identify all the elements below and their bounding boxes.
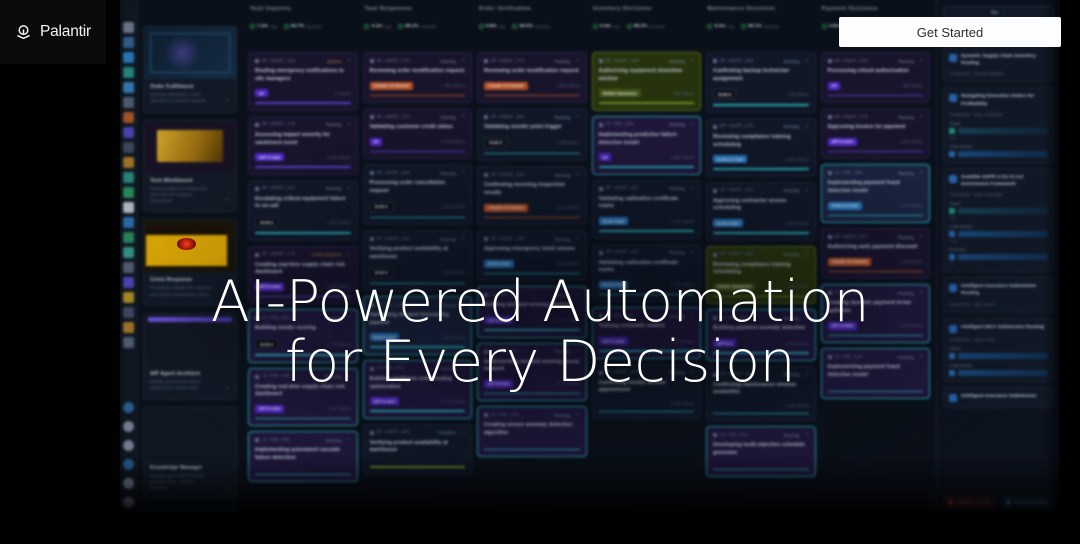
- kanban-column[interactable]: OP-AGENT_180Running↗Confirming backup te…: [706, 52, 816, 506]
- task-id: AI-PDE_216: [491, 349, 519, 354]
- task-id: OP-AGENT_191: [377, 237, 410, 242]
- task-card[interactable]: OP-AGENT_191Running↗Verifying product av…: [363, 230, 473, 291]
- task-model-chip: GPT-4 mini: [828, 322, 857, 330]
- quiver-icon[interactable]: [123, 112, 134, 123]
- task-card-footer: GPT-4 mini2,504 tokens: [828, 322, 924, 330]
- external-link-icon[interactable]: ↗: [804, 124, 808, 130]
- help-icon[interactable]: [123, 421, 134, 432]
- external-link-icon[interactable]: ↗: [690, 313, 694, 319]
- task-id: AI-PDE_228: [835, 355, 863, 360]
- task-card-footer: GPT-4 mini1,061 tokens: [828, 138, 924, 146]
- external-link-icon[interactable]: ↗: [575, 236, 579, 242]
- hivemind-created-by: Created By : Glyn Lovett: [949, 302, 1048, 307]
- task-card[interactable]: OP-AGENT_181Running↗Escalating critical …: [248, 180, 358, 241]
- task-card[interactable]: OP-AGENT_173Running↗Approving invoice fo…: [821, 108, 931, 159]
- exploration-icon: [949, 175, 957, 183]
- task-card[interactable]: AI-PDE_204Running↗Building vendor scorin…: [248, 309, 358, 362]
- project-column[interactable]: Order FulfillmentOptimize distribution c…: [138, 0, 242, 512]
- task-card[interactable]: AI-PDE_222Running↗Building payment anoma…: [706, 309, 816, 360]
- agent-icon: [713, 253, 717, 257]
- agent-icon: [484, 350, 488, 354]
- task-title: Reviewing order modification request: [484, 68, 580, 76]
- get-started-button[interactable]: Get Started: [839, 17, 1061, 47]
- task-model-chip: Grok-4: [713, 89, 736, 99]
- task-status: Running: [555, 349, 571, 354]
- hivemind-section-row[interactable]: [949, 151, 1048, 157]
- task-title: Validating reorder point trigger: [484, 124, 580, 132]
- agent-icon: [255, 123, 259, 127]
- hivemind-section-row[interactable]: [949, 370, 1048, 376]
- panel-footer-button[interactable]: Browse Problems: [1001, 497, 1054, 508]
- agent-icon: [599, 251, 603, 255]
- task-status: Complete: [438, 430, 456, 435]
- avatar-icon[interactable]: [123, 497, 134, 508]
- hivemind-item-icon: [949, 353, 955, 359]
- account-icon[interactable]: [123, 440, 134, 451]
- task-status: Running: [326, 438, 342, 443]
- task-card[interactable]: AI-PDE_226Running↗Creating dynamic payme…: [821, 284, 931, 343]
- external-link-icon[interactable]: ↗: [461, 236, 465, 242]
- task-title: Confirming maintenance window availabili…: [713, 382, 809, 397]
- external-link-icon[interactable]: ↗: [919, 234, 923, 240]
- external-link-icon[interactable]: ↗: [346, 186, 350, 192]
- hivemind-item-name: [958, 370, 1048, 376]
- task-token-count: 2,104 tokens: [327, 155, 350, 160]
- kanban-column[interactable]: OP-AGENT_194Inbetws↗Routing emergency no…: [248, 52, 358, 506]
- task-status: Running: [440, 115, 456, 120]
- task-card-header: OP-AGENT_181Running↗: [255, 186, 351, 192]
- task-progress-bar: [255, 102, 351, 104]
- hivemind-card-top: Intelligent Insurance Submission Routing: [949, 283, 1048, 297]
- task-status: Running: [555, 293, 571, 298]
- external-link-icon[interactable]: ↗: [461, 114, 465, 120]
- agent-icon: [713, 125, 717, 129]
- task-id: OP-AGENT_196: [606, 370, 639, 375]
- external-link-icon[interactable]: ↗: [804, 252, 808, 258]
- hivemind-card[interactable]: Navigating Executive Orders for Profitab…: [943, 87, 1054, 162]
- exploration-icon: [949, 394, 957, 402]
- hivemind-item-count: +28: [949, 136, 1048, 140]
- task-card[interactable]: OP-AGENT_190Running↗Approving emergency …: [477, 230, 587, 281]
- task-progress-bar: [484, 449, 580, 451]
- table-icon[interactable]: [123, 307, 134, 318]
- agent-icon: [255, 375, 259, 379]
- external-link-icon[interactable]: ↗: [575, 349, 579, 355]
- task-model-chip: Grok-3: [255, 339, 278, 349]
- task-card[interactable]: AI-PDE_216Running↗Implementing demand se…: [477, 343, 587, 402]
- task-card-header: AI-PDE_206Running↗: [255, 374, 351, 380]
- task-model-chip: Grok-3: [255, 217, 278, 227]
- task-card[interactable]: AI-PDE_214Running↗Building demand sensin…: [477, 286, 587, 337]
- task-title: Authorizing equipment downtime window: [599, 68, 695, 83]
- external-link-icon[interactable]: ↗: [804, 432, 808, 438]
- task-id: AI-PDE_214: [491, 293, 519, 298]
- external-link-icon[interactable]: ↗: [919, 170, 923, 176]
- task-card-header: OP-AGENT_170Running↗: [255, 122, 351, 128]
- external-link-icon[interactable]: ↗: [346, 315, 350, 321]
- task-card[interactable]: OP-AGENT_187Running↗Validating calibrati…: [592, 180, 702, 239]
- task-token-count: 1,515 tokens: [556, 205, 579, 210]
- panel-footer-buttons[interactable]: Workflow LineageBrowse Problems: [943, 493, 1054, 508]
- project-subtitle: Proactively mitigate the exposure and mo…: [150, 285, 212, 298]
- contour-icon[interactable]: [123, 82, 134, 93]
- external-link-icon[interactable]: ↗: [690, 122, 694, 128]
- task-card-header: OP-AGENT_186Running↗: [713, 188, 809, 194]
- agent-icon: [828, 355, 832, 359]
- exploration-icon: [949, 284, 957, 292]
- external-link-icon[interactable]: ↗: [804, 372, 808, 378]
- project-title: Tech Workbench: [150, 178, 230, 184]
- task-card[interactable]: AI-PDE_195Running↗Implementing predictiv…: [592, 116, 702, 175]
- project-card[interactable]: [143, 507, 237, 512]
- task-id: OP-AGENT_188: [491, 173, 524, 178]
- task-progress-bar: [255, 354, 351, 356]
- task-progress-bar: [713, 296, 809, 298]
- task-progress-bar: [484, 393, 580, 395]
- task-token-count: 1,270 tokens: [442, 139, 465, 144]
- arrow-right-icon[interactable]: →: [223, 196, 230, 203]
- task-card-header: AI-PDE_199Running↗: [828, 170, 924, 176]
- task-card-footer: GPT-4.12,330 tokens: [713, 339, 809, 347]
- external-link-icon[interactable]: ↗: [919, 290, 923, 296]
- arrow-right-icon[interactable]: →: [223, 384, 230, 391]
- agent-icon: [484, 237, 488, 241]
- apps-icon[interactable]: [123, 459, 134, 470]
- slate-icon[interactable]: [123, 97, 134, 108]
- task-card[interactable]: OP-AGENT_178Running↗Reviewing compliance…: [706, 118, 816, 177]
- task-progress-bar: [599, 294, 695, 296]
- agent-icon: [599, 314, 603, 318]
- task-model-chip: GPT-4.1: [713, 339, 736, 347]
- task-card[interactable]: OP-AGENT_170Running↗Assessing impact sev…: [248, 116, 358, 175]
- task-title: Reviewing compliance training scheduling: [713, 134, 809, 149]
- task-card[interactable]: AI-PDE_220Running↗Training ensemble mode…: [592, 307, 702, 358]
- hivemind-card[interactable]: Scalable GDPR & EU AI Act Governance Fra…: [943, 168, 1054, 272]
- hivemind-card[interactable]: Intelligent Insurance Submission: [943, 387, 1054, 408]
- kanban-column[interactable]: OP-AGENT_182Running↗Processing refund au…: [821, 52, 931, 506]
- brand-name: Palantir: [40, 23, 91, 41]
- task-token-count: 1,145 tokens: [442, 204, 465, 209]
- task-card[interactable]: AI-PDE_208Running↗Implementing automated…: [248, 431, 358, 482]
- external-link-icon[interactable]: ↗: [690, 370, 694, 376]
- task-token-count: 1,740 tokens: [327, 342, 350, 347]
- task-card-footer: Grok-4 fast1,880 tokens: [484, 260, 580, 268]
- chart-icon[interactable]: [123, 337, 134, 348]
- task-status: Running: [326, 374, 342, 379]
- hivemind-card-top: Intelligent MGA Submission Routing: [949, 324, 1048, 333]
- task-card[interactable]: OP-AGENT_198Running↗Confirming maintenan…: [706, 366, 816, 422]
- project-card[interactable]: Crisis ResponseProactively mitigate the …: [143, 219, 237, 306]
- task-card[interactable]: OP-AGENT_193Complete↗Verifying product a…: [363, 424, 473, 475]
- task-status: Running: [440, 303, 456, 308]
- hivemind-item-icon: [949, 151, 955, 157]
- task-status: Running: [669, 122, 685, 127]
- task-status: Running: [555, 237, 571, 242]
- project-thumbnail: [144, 220, 236, 272]
- task-progress-bar: [599, 166, 695, 168]
- brand-logo[interactable]: Palantir: [0, 0, 106, 64]
- project-card-body: Order FulfillmentOptimize distribution c…: [144, 79, 236, 112]
- workshop-icon[interactable]: [123, 127, 134, 138]
- task-card[interactable]: AI-PDE_212Running↗Building intelligent o…: [363, 360, 473, 419]
- task-progress-bar: [484, 95, 580, 97]
- kanban-column[interactable]: OP-AGENT_185Running↗Authorizing equipmen…: [592, 52, 702, 506]
- task-progress-bar: [828, 151, 924, 153]
- scenario-icon[interactable]: [123, 142, 134, 153]
- lineage-icon: [948, 500, 953, 505]
- hivemind-section-row[interactable]: [949, 128, 1048, 134]
- task-card-header: AI-PDE_228Running↗: [828, 354, 924, 360]
- kanban-board: Task Inquiries7.2mavg94.7%successTask Re…: [242, 0, 936, 512]
- task-id: AI-PDE_212: [377, 366, 405, 371]
- hivemind-item-icon: [949, 231, 955, 237]
- hivemind-item-icon: [949, 370, 955, 376]
- task-title: Implementing payment fraud detection mod…: [828, 180, 924, 195]
- task-progress-bar: [484, 217, 580, 219]
- task-model-chip: v4: [828, 82, 841, 90]
- task-card[interactable]: OP-AGENT_192Running↗Validating calibrati…: [592, 244, 702, 303]
- task-id: AI-PDE_199: [835, 171, 863, 176]
- task-card-footer: GPT-4 mini2,432 tokens: [255, 405, 351, 413]
- task-card-header: AI-PDE_208Running↗: [255, 437, 351, 443]
- task-card[interactable]: OP-AGENT_189Running↗Reviewing compliance…: [706, 246, 816, 305]
- task-token-count: 2,432 tokens: [327, 406, 350, 411]
- kanban-column[interactable]: OP-AGENT_179Running↗Reviewing order modi…: [363, 52, 473, 506]
- task-model-chip: Claude 3.5 Sonnet: [828, 258, 872, 266]
- task-card[interactable]: OP-AGENT_176Active Required↗Creating rea…: [248, 246, 358, 305]
- hivemind-item-icon: [949, 208, 955, 214]
- notifications-icon[interactable]: [123, 478, 134, 489]
- task-id: AI-PDE_220: [606, 314, 634, 319]
- hivemind-section-row[interactable]: [949, 208, 1048, 214]
- hivemind-card-top: Intelligent Insurance Submission: [949, 393, 1048, 402]
- agent-icon: [713, 189, 717, 193]
- alert-icon[interactable]: [123, 292, 134, 303]
- task-card[interactable]: OP-AGENT_188Running↗Confirming receiving…: [477, 166, 587, 225]
- task-model-chip: Grok-3: [370, 268, 393, 278]
- task-title: Training ensemble models: [599, 323, 695, 331]
- task-model-chip: GPT-4 mini: [828, 138, 857, 146]
- external-link-icon[interactable]: ↗: [575, 114, 579, 120]
- hivemind-card-title: Intelligent MGA Submission Routing: [961, 324, 1044, 333]
- agent-icon: [713, 373, 717, 377]
- task-token-count: 0 tokens: [335, 91, 350, 96]
- task-token-count: 2,610 tokens: [556, 381, 579, 386]
- task-status: Active Required: [312, 252, 342, 257]
- task-card-header: OP-AGENT_191Running↗: [370, 236, 466, 242]
- task-progress-bar: [370, 217, 466, 219]
- hivemind-card-title: Intelligent Insurance Submission: [961, 393, 1036, 402]
- external-link-icon[interactable]: ↗: [346, 374, 350, 380]
- task-card[interactable]: AI-PDE_199Running↗Implementing payment f…: [821, 164, 931, 223]
- external-link-icon[interactable]: ↗: [804, 188, 808, 194]
- task-card-header: OP-AGENT_189Running↗: [713, 252, 809, 258]
- task-status: Running: [555, 413, 571, 418]
- hivemind-card[interactable]: Intelligent Insurance Submission Routing…: [943, 277, 1054, 312]
- project-card[interactable]: Knowledge ManagerManage agent staff conc…: [143, 407, 237, 500]
- task-card-header: OP-AGENT_172Running↗: [370, 114, 466, 120]
- task-card[interactable]: OP-AGENT_186Running↗Approving contractor…: [706, 182, 816, 241]
- task-progress-bar: [713, 104, 809, 106]
- kanban-columns[interactable]: OP-AGENT_194Inbetws↗Routing emergency no…: [242, 52, 936, 512]
- task-id: OP-AGENT_190: [491, 237, 524, 242]
- task-title: Confirming receiving inspection results: [484, 182, 580, 197]
- external-link-icon[interactable]: ↗: [575, 172, 579, 178]
- task-token-count: 2,015 tokens: [442, 335, 465, 340]
- task-card[interactable]: AI-PDE_210Running↗Optimizing demand fore…: [363, 296, 473, 355]
- project-card[interactable]: AIP Agent ArchitectIdentify and improve …: [143, 313, 237, 400]
- task-status: Running: [898, 171, 914, 176]
- task-title: Creating real-time supply chain risk das…: [255, 384, 351, 399]
- project-title: Order Fulfillment: [150, 84, 230, 90]
- agent-icon: [255, 253, 259, 257]
- task-token-count: 1,455 tokens: [671, 401, 694, 406]
- project-card[interactable]: Tech WorkbenchReview production bottlene…: [143, 120, 237, 213]
- task-token-count: 1,406 tokens: [785, 157, 808, 162]
- settings-icon[interactable]: [123, 402, 134, 413]
- task-title: Confirming vendor service appointment: [599, 380, 695, 395]
- exploration-icon: [949, 94, 957, 102]
- task-status: Running: [326, 316, 342, 321]
- task-status: Running: [555, 173, 571, 178]
- task-id: AI-PDE_195: [606, 122, 634, 127]
- project-thumbnail: [144, 508, 236, 512]
- app-icon-rail[interactable]: [120, 0, 138, 512]
- task-card[interactable]: OP-AGENT_172Running↗Validating customer …: [363, 108, 473, 159]
- agent-icon: [370, 171, 374, 175]
- task-card[interactable]: OP-AGENT_196Running↗Confirming vendor se…: [592, 364, 702, 420]
- external-link-icon[interactable]: ↗: [346, 122, 350, 128]
- task-token-count: 2,880 tokens: [327, 284, 350, 289]
- task-model-chip: NVIDIA Nemotron: [599, 89, 641, 97]
- kanban-column[interactable]: OP-AGENT_175Running↗Reviewing order modi…: [477, 52, 587, 506]
- external-link-icon[interactable]: ↗: [690, 186, 694, 192]
- task-card-header: OP-AGENT_196Running↗: [599, 370, 695, 376]
- task-card[interactable]: AI-PDE_228Running↗Implementing payment f…: [821, 348, 931, 399]
- task-id: OP-AGENT_189: [720, 252, 753, 257]
- hivemind-card-list[interactable]: Dynamic Supply Chain Inventory RoutingCr…: [943, 47, 1054, 408]
- external-link-icon[interactable]: ↗: [575, 412, 579, 418]
- external-link-icon[interactable]: ↗: [461, 366, 465, 372]
- task-status: Running: [898, 115, 914, 120]
- task-token-count: 295 tokens: [788, 284, 808, 289]
- hivemind-section-row[interactable]: [949, 231, 1048, 237]
- task-progress-bar: [713, 469, 809, 471]
- panel-footer-button[interactable]: Workflow Lineage: [943, 497, 996, 508]
- task-model-chip: v4: [599, 153, 612, 161]
- external-link-icon[interactable]: ↗: [575, 292, 579, 298]
- task-card-header: AI-PDE_218Running↗: [484, 412, 580, 418]
- task-card-footer: v4284 tokens: [828, 82, 924, 90]
- hivemind-item-name: [958, 353, 1048, 359]
- task-model-chip: Grok-4 fast: [370, 333, 400, 341]
- graph-icon[interactable]: [123, 172, 134, 183]
- arrow-right-icon[interactable]: →: [223, 290, 230, 297]
- task-id: OP-AGENT_187: [606, 186, 639, 191]
- hivemind-item-name: [958, 128, 1048, 134]
- task-model-chip: Grok-4.1 Fast: [713, 155, 747, 163]
- task-title: Implementing predictive failure detectio…: [599, 132, 695, 147]
- task-model-chip: Grok-3: [370, 202, 393, 212]
- hivemind-section-label: Views:: [949, 346, 1048, 351]
- project-subtitle: Optimize distribution center operations …: [150, 92, 212, 105]
- external-link-icon[interactable]: ↗: [461, 170, 465, 176]
- model-icon[interactable]: [123, 277, 134, 288]
- task-progress-bar: [370, 95, 466, 97]
- task-token-count: 1,612 tokens: [785, 221, 808, 226]
- task-title: Verifying product availability at wareho…: [370, 246, 466, 261]
- task-card-header: AI-PDE_226Running↗: [828, 290, 924, 296]
- project-title: AIP Agent Architect: [150, 371, 230, 377]
- task-card-footer: Grok-4.1 Fast1,406 tokens: [713, 155, 809, 163]
- hivemind-panel[interactable]: Go → Active Hivemind Explorations Dynami…: [936, 0, 1060, 512]
- task-card[interactable]: AI-PDE_206Running↗Creating real-time sup…: [248, 368, 358, 427]
- hivemind-card[interactable]: Intelligent MGA Submission RoutingCreate…: [943, 318, 1054, 382]
- code-icon[interactable]: [123, 247, 134, 258]
- task-card-footer: 1,455 tokens: [599, 401, 695, 406]
- task-progress-bar: [370, 410, 466, 412]
- archive-icon[interactable]: [123, 322, 134, 333]
- task-card-header: OP-AGENT_177Running↗: [828, 234, 924, 240]
- task-card[interactable]: OP-AGENT_184Running↗Validating reorder p…: [477, 108, 587, 161]
- hivemind-section-row[interactable]: [949, 254, 1048, 260]
- task-id: AI-PDE_210: [377, 303, 405, 308]
- hivemind-section-row[interactable]: [949, 353, 1048, 359]
- external-link-icon[interactable]: ↗: [346, 252, 350, 258]
- task-card[interactable]: AI-PDE_218Running↗Creating sensor anomal…: [477, 406, 587, 457]
- hivemind-created-by: Created By : Isaac Chevalier: [949, 192, 1048, 197]
- task-title: Building payment anomaly detection: [713, 325, 809, 333]
- hivemind-item-count: +49: [949, 216, 1048, 220]
- project-thumbnail: [144, 121, 236, 173]
- task-id: OP-AGENT_177: [835, 235, 868, 240]
- terminal-icon[interactable]: [123, 187, 134, 198]
- external-link-icon[interactable]: ↗: [804, 315, 808, 321]
- task-progress-bar: [713, 413, 809, 415]
- fusion-icon[interactable]: [123, 157, 134, 168]
- agent-icon: [370, 115, 374, 119]
- hivemind-item-icon: [949, 254, 955, 260]
- arrow-right-icon[interactable]: →: [223, 484, 230, 491]
- task-title: Verifying product availability at wareho…: [370, 440, 466, 455]
- map-icon[interactable]: [123, 232, 134, 243]
- external-link-icon[interactable]: ↗: [919, 114, 923, 120]
- task-progress-bar: [828, 335, 924, 337]
- task-id: AI-PDE_218: [491, 413, 519, 418]
- task-card[interactable]: AI-PDE_224Running↗Developing multi-objec…: [706, 426, 816, 477]
- external-link-icon[interactable]: ↗: [461, 430, 465, 436]
- external-link-icon[interactable]: ↗: [919, 354, 923, 360]
- external-link-icon[interactable]: ↗: [346, 437, 350, 443]
- task-progress-bar: [713, 232, 809, 234]
- globe-icon[interactable]: [123, 217, 134, 228]
- vertex-icon[interactable]: [123, 202, 134, 213]
- task-id: OP-AGENT_181: [262, 186, 295, 191]
- project-card-body: Crisis ResponseProactively mitigate the …: [144, 272, 236, 305]
- agent-icon: [599, 187, 603, 191]
- external-link-icon[interactable]: ↗: [461, 302, 465, 308]
- media-icon[interactable]: [123, 262, 134, 273]
- external-link-icon[interactable]: ↗: [690, 250, 694, 256]
- pipeline-icon[interactable]: [123, 67, 134, 78]
- task-card[interactable]: OP-AGENT_177Running↗Authorizing early pa…: [821, 228, 931, 279]
- task-card[interactable]: OP-AGENT_183Running↗Processing order can…: [363, 164, 473, 225]
- task-id: OP-AGENT_183: [377, 171, 410, 176]
- hivemind-card-title: Navigating Executive Orders for Profitab…: [961, 93, 1048, 107]
- task-model-chip: GPT-4 mini: [484, 380, 513, 388]
- panel-footer-button-label: Workflow Lineage: [956, 500, 991, 505]
- arrow-right-icon[interactable]: →: [223, 97, 230, 104]
